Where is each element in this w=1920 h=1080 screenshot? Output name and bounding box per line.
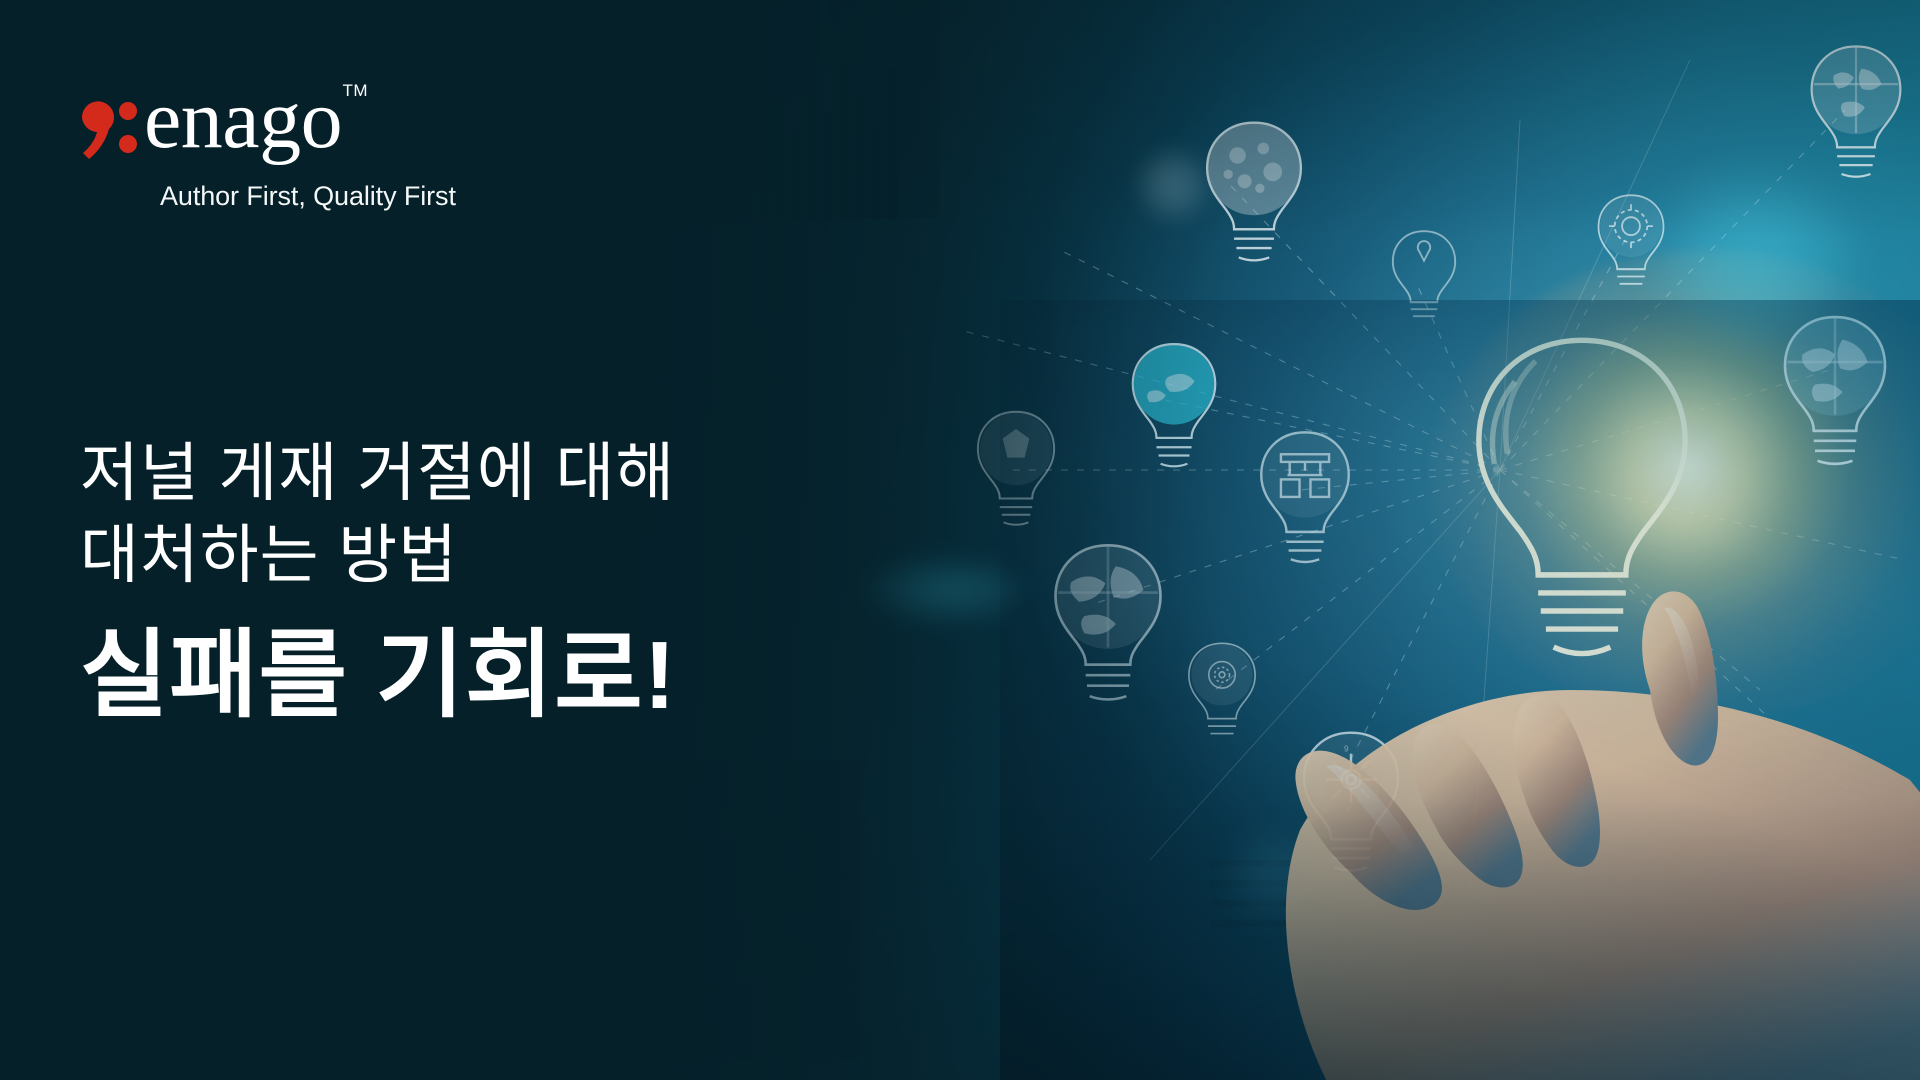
logo-tagline: Author First, Quality First <box>160 180 558 212</box>
headline-emphasis: 실패를 기회로! <box>80 622 980 730</box>
banner-root: 39 26 48 <box>0 0 1920 1080</box>
enago-semicolon-mark-icon <box>78 78 140 170</box>
trademark-symbol: TM <box>343 82 369 99</box>
logo-wordmark-text: enago <box>144 73 342 166</box>
logo-row: enago TM <box>78 78 558 170</box>
logo-wordmark: enago TM <box>144 78 342 162</box>
headline-line-1: 저널 게재 거절에 대해 <box>80 432 980 514</box>
enago-logo[interactable]: enago TM Author First, Quality First <box>78 78 558 212</box>
headline-line-2: 대처하는 방법 <box>80 514 980 596</box>
headline-block: 저널 게재 거절에 대해 대처하는 방법 실패를 기회로! <box>80 432 980 730</box>
